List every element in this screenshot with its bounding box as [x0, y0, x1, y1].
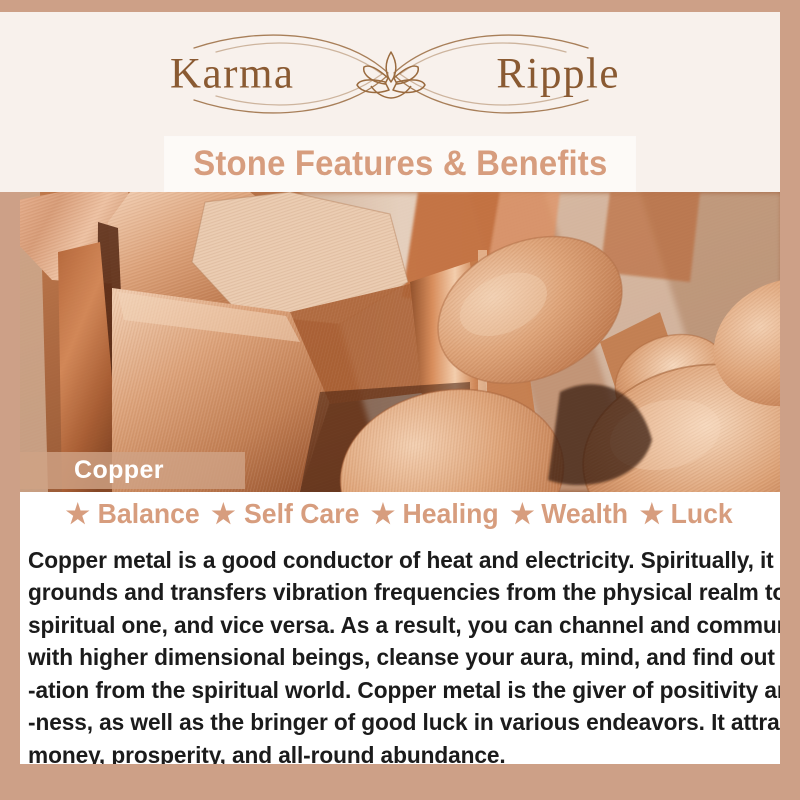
- star-icon: ★: [640, 501, 664, 528]
- benefit-label: Balance: [98, 500, 200, 528]
- benefit-label: Healing: [403, 500, 499, 528]
- star-icon: ★: [66, 501, 90, 528]
- infographic-card: Karma Ripple Stone Features & Benefits: [0, 0, 800, 800]
- description-line: -ation from the spiritual world. Copper …: [28, 674, 750, 706]
- description-text: Copper metal is a good conductor of heat…: [28, 544, 776, 771]
- content-panel: ★ Balance ★ Self Care ★ Healing ★ Wealth…: [20, 492, 780, 764]
- frame-top-border: [0, 0, 800, 12]
- lotus-icon: [357, 52, 425, 98]
- brand-logo: Karma Ripple: [0, 18, 782, 130]
- benefit-label: Self Care: [244, 500, 359, 528]
- star-icon: ★: [211, 501, 235, 528]
- description-line: spiritual one, and vice versa. As a resu…: [28, 609, 750, 641]
- brand-name-right: Ripple: [496, 53, 620, 96]
- benefit-label: Luck: [671, 500, 733, 528]
- benefits-list: ★ Balance ★ Self Care ★ Healing ★ Wealth…: [20, 500, 780, 528]
- frame-left-border: [0, 192, 20, 800]
- section-title-panel: Stone Features & Benefits: [165, 137, 635, 191]
- benefit-item: ★ Wealth: [510, 500, 631, 528]
- description-line: Copper metal is a good conductor of heat…: [28, 544, 750, 576]
- star-icon: ★: [510, 501, 534, 528]
- frame-bottom-border: [0, 764, 800, 800]
- benefit-label: Wealth: [542, 500, 629, 528]
- brand-name-left: Karma: [170, 53, 295, 96]
- benefit-item: ★ Healing: [371, 500, 501, 528]
- description-line: grounds and transfers vibration frequenc…: [28, 576, 750, 608]
- stone-photo: [0, 192, 782, 492]
- benefit-item: ★ Luck: [640, 500, 735, 528]
- star-icon: ★: [371, 501, 395, 528]
- description-line: with higher dimensional beings, cleanse …: [28, 641, 750, 673]
- stone-name-band: Copper: [20, 452, 245, 489]
- stone-name: Copper: [74, 458, 164, 483]
- description-line: -ness, as well as the bringer of good lu…: [28, 706, 750, 738]
- benefit-item: ★ Self Care: [211, 500, 362, 528]
- frame-right-border: [780, 0, 800, 800]
- benefit-item: ★ Balance: [66, 500, 203, 528]
- page-title: Stone Features & Benefits: [193, 144, 607, 184]
